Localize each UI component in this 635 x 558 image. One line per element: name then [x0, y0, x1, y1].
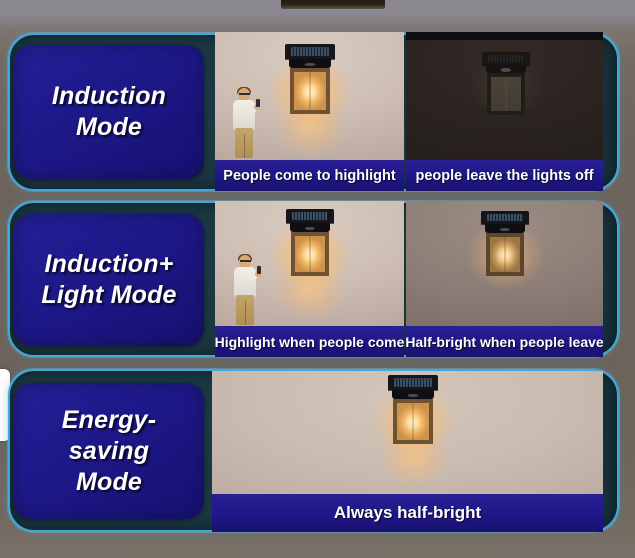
person-phone — [257, 266, 261, 274]
mode-label-line-1: Energy-saving — [62, 406, 156, 465]
solar-panel-icon — [286, 209, 334, 223]
lamp-housing — [291, 232, 329, 276]
scene-half-bright-wall — [406, 201, 603, 326]
media-cell-highlight-when-come[interactable]: Highlight when people come — [215, 201, 404, 357]
person-legs — [236, 295, 254, 325]
person-standing-icon — [232, 255, 264, 326]
mode-label-line-1: Induction+ — [44, 250, 173, 278]
solar-panel-icon — [388, 375, 438, 390]
scene-bright-lit-wall — [215, 201, 404, 326]
mode-label-line-2: Light Mode — [41, 281, 176, 309]
mode-label-line-2: Mode — [76, 113, 142, 141]
caption-people-leave: people leave the lights off — [406, 160, 603, 191]
motion-sensor-icon — [290, 223, 330, 232]
page-background: Induction Mode — [0, 0, 635, 558]
mode-label-text: Induction Mode — [52, 81, 166, 143]
mode-label-induction-plus-light: Induction+ Light Mode — [14, 214, 204, 346]
person-glasses — [239, 93, 250, 98]
lamp-housing — [486, 233, 524, 276]
motion-sensor-icon — [392, 390, 434, 399]
lamp-housing — [487, 73, 525, 115]
ceiling-shadow — [406, 32, 603, 40]
person-phone — [256, 99, 260, 107]
lamp-mullion — [310, 236, 311, 272]
scene-wide-lit-wall — [212, 371, 603, 494]
mode-label-line-2: Mode — [76, 468, 142, 496]
lamp-mullion — [505, 237, 506, 272]
mode-label-energy-saving: Energy-saving Mode — [14, 383, 204, 519]
solar-wall-lamp-icon — [477, 52, 535, 120]
caption-highlight-when-come: Highlight when people come — [215, 326, 404, 357]
caption-people-come: People come to highlight — [215, 160, 404, 191]
motion-sensor-icon — [486, 65, 526, 73]
lamp-housing — [290, 68, 330, 114]
caption-half-bright-when-leave: Half-bright when people leave — [406, 326, 603, 357]
lamp-mullion — [310, 72, 311, 110]
scene-dark-wall-light-off — [406, 32, 603, 160]
solar-wall-lamp-icon — [282, 209, 338, 279]
mode-label-line-1: Induction — [52, 82, 166, 110]
solar-panel-icon — [481, 211, 529, 224]
person-standing-icon — [231, 88, 263, 160]
media-cell-people-leave[interactable]: people leave the lights off — [406, 32, 603, 191]
mode-label-text: Induction+ Light Mode — [41, 249, 176, 311]
caption-always-half-bright: Always half-bright — [212, 494, 603, 532]
solar-panel-icon — [285, 44, 335, 59]
mode-label-text: Energy-saving Mode — [22, 405, 196, 498]
motion-sensor-icon — [485, 224, 525, 233]
solar-wall-lamp-icon — [385, 375, 441, 447]
lamp-mullion — [413, 403, 414, 440]
solar-wall-lamp-icon — [281, 44, 339, 116]
lamp-mullion — [506, 77, 507, 111]
scene-bright-lit-wall — [215, 32, 404, 160]
person-glasses — [240, 260, 251, 265]
media-cell-always-half-bright[interactable]: Always half-bright — [212, 371, 603, 532]
media-cell-people-come[interactable]: People come to highlight — [215, 32, 404, 191]
person-legs — [235, 128, 253, 158]
lamp-housing — [393, 399, 433, 444]
mode-label-induction: Induction Mode — [14, 45, 204, 179]
solar-panel-icon — [482, 52, 530, 65]
media-cell-half-bright-when-leave[interactable]: Half-bright when people leave — [406, 201, 603, 357]
solar-wall-lamp-icon — [477, 211, 533, 279]
motion-sensor-icon — [289, 59, 331, 68]
top-cropped-photo-strip — [281, 0, 385, 9]
